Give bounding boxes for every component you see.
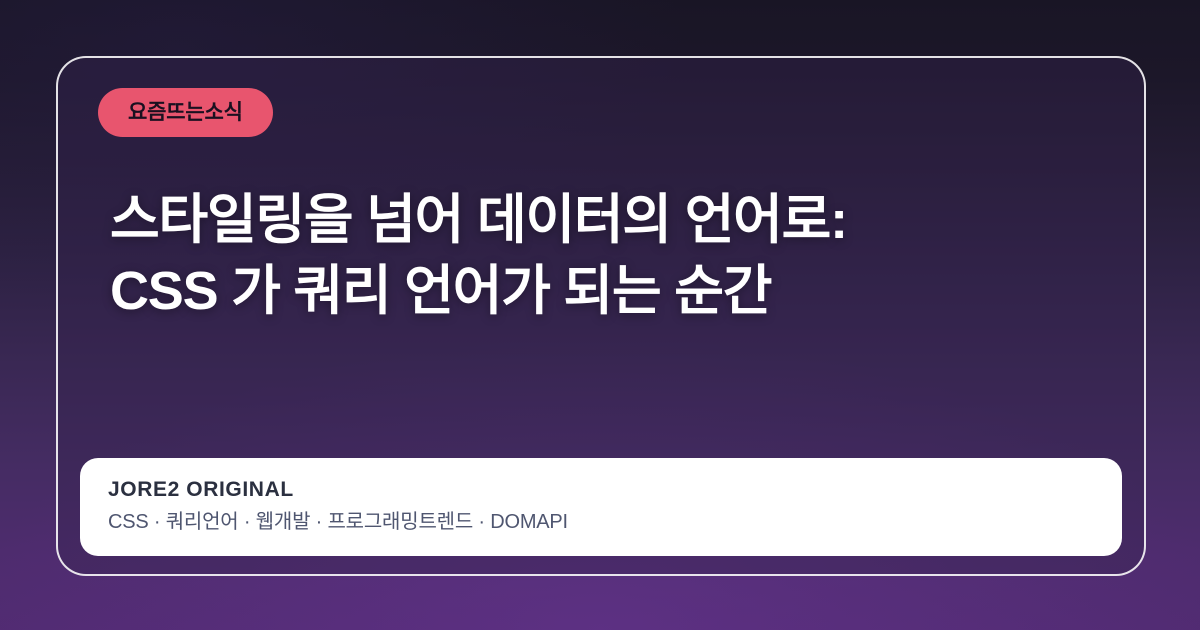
headline-line-2: CSS 가 쿼리 언어가 되는 순간 <box>110 256 1104 327</box>
category-badge[interactable]: 요즘뜨는소식 <box>98 88 273 137</box>
brand-label: JORE2 ORIGINAL <box>108 476 1094 503</box>
og-image-canvas: 요즘뜨는소식 스타일링을 넘어 데이터의 언어로: CSS 가 쿼리 언어가 되… <box>0 0 1200 630</box>
footer-card: JORE2 ORIGINAL CSS · 쿼리언어 · 웹개발 · 프로그래밍트… <box>80 458 1122 556</box>
headline-block: 스타일링을 넘어 데이터의 언어로: CSS 가 쿼리 언어가 되는 순간 <box>98 185 1104 328</box>
headline-line-1: 스타일링을 넘어 데이터의 언어로: <box>110 185 1104 256</box>
tag-list: CSS · 쿼리언어 · 웹개발 · 프로그래밍트렌드 · DOMAPI <box>108 509 1094 536</box>
content-card: 요즘뜨는소식 스타일링을 넘어 데이터의 언어로: CSS 가 쿼리 언어가 되… <box>56 56 1146 576</box>
